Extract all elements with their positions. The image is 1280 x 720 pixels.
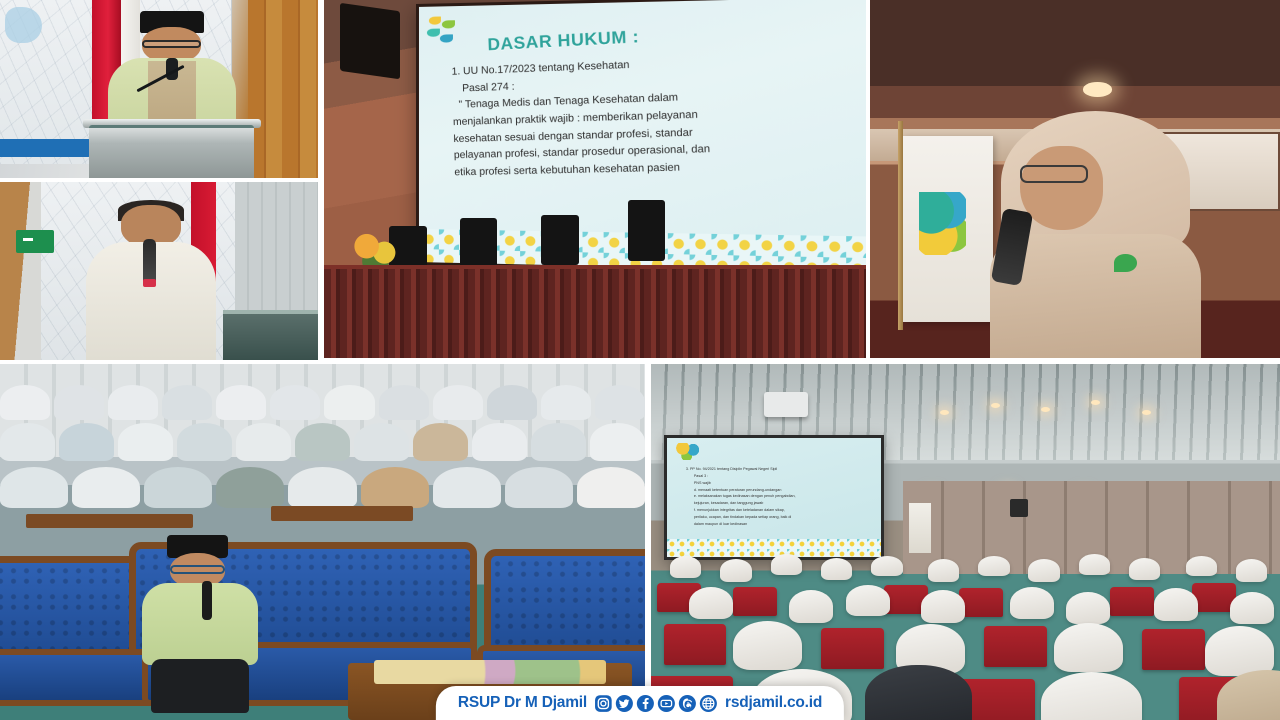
- website-url: rsdjamil.co.id: [725, 694, 822, 712]
- social-icon-row: [594, 694, 718, 713]
- attendee: [1230, 592, 1274, 624]
- attendee: [354, 423, 409, 461]
- attendee: [846, 585, 890, 616]
- attendee: [216, 385, 266, 419]
- attendee: [472, 423, 527, 461]
- auditorium-chair: [959, 588, 1003, 617]
- audience-row: [0, 385, 645, 419]
- slide-line: perilaku, ucapan, dan tindakan kepada se…: [686, 514, 866, 521]
- photo-panel-speaker-mic: Pria berbaju putih memegang mikrofon di …: [0, 182, 318, 360]
- attendee: [733, 621, 802, 671]
- attendee: [433, 467, 501, 508]
- stage-chair: [628, 200, 666, 261]
- attendee: [590, 423, 645, 461]
- sofa-chair: [0, 556, 142, 663]
- ceiling-downlight: [1083, 82, 1112, 96]
- sofa-backrest: [0, 556, 142, 663]
- auditorium-chair: [984, 626, 1047, 667]
- attendee: [108, 385, 158, 419]
- attendee: [1041, 672, 1142, 720]
- slide-decoration-dots: [675, 443, 701, 460]
- slide-content: 3. PP No. 94/2021 tentang Disiplin Pegaw…: [667, 438, 881, 557]
- instagram-icon[interactable]: [594, 694, 613, 713]
- photo-panel-hall-wide: 3. PP No. 94/2021 tentang Disiplin Pegaw…: [651, 364, 1280, 720]
- attendee: [361, 467, 429, 508]
- attendee: [789, 590, 833, 622]
- questioner-legs: [151, 659, 249, 712]
- attendee: [270, 385, 320, 419]
- attendee: [865, 665, 972, 720]
- speaker-figure: [86, 205, 216, 360]
- slide-line: PNS wajib: [686, 480, 866, 487]
- attendee: [162, 385, 212, 419]
- facebook-icon[interactable]: [636, 694, 655, 713]
- attendee: [1186, 556, 1217, 577]
- ceiling-speaker: [340, 3, 400, 79]
- standing-flag: [909, 503, 931, 553]
- slide-line: d. menaati ketentuan peraturan perundang…: [686, 487, 866, 494]
- attendee: [505, 467, 573, 508]
- slide-decoration-dots: [427, 16, 457, 47]
- eyeglasses: [142, 40, 201, 48]
- attendee: [0, 385, 50, 419]
- attendee: [595, 385, 645, 419]
- slide-line: e. melaksanakan tugas kedinasan dengan p…: [686, 493, 866, 500]
- attendee: [1054, 623, 1123, 673]
- audience-row: [0, 467, 645, 508]
- attendee: [928, 559, 959, 581]
- kemenkes-logo-icon: [919, 192, 966, 255]
- photo-panel-speaker-podium: Pembicara pria berpeci dan batik hijau b…: [0, 0, 318, 178]
- kemenkes-flag: [903, 136, 993, 322]
- audience-crowd: [0, 385, 645, 556]
- attendee: [1129, 558, 1160, 580]
- slide-line: f. menunjukkan integritas dan keteladana…: [686, 507, 866, 514]
- attendee: [413, 423, 468, 461]
- slide-line: 3. PP No. 94/2021 tentang Disiplin Pegaw…: [686, 466, 866, 473]
- attendee: [324, 385, 374, 419]
- attendee: [720, 559, 751, 581]
- stage-chair: [460, 218, 498, 268]
- slide-line: kejujuran, kesadaran, dan tanggung jawab: [686, 500, 866, 507]
- attendee: [541, 385, 591, 419]
- podium: [223, 310, 318, 360]
- slide-line: dalam maupun di luar kedinasan: [686, 521, 866, 528]
- slide-title: DASAR HUKUM :: [487, 15, 843, 55]
- attendee: [72, 467, 140, 508]
- eyeglasses: [170, 565, 226, 574]
- questioner-torso-batik: [142, 583, 258, 665]
- slide-body: 1. UU No.17/2023 tentang Kesehatan Pasal…: [451, 49, 844, 182]
- attendee: [54, 385, 104, 419]
- attendee: [771, 554, 802, 575]
- attendee: [288, 467, 356, 508]
- attendee: [177, 423, 232, 461]
- podium: [89, 125, 254, 178]
- table-flower-decoration: [374, 660, 606, 685]
- attendee: [118, 423, 173, 461]
- attendee: [821, 558, 852, 580]
- head-table-skirt: [324, 265, 866, 358]
- table: [271, 506, 413, 520]
- auditorium-chair: [1142, 629, 1205, 670]
- ceiling-projector: [764, 392, 808, 417]
- photo-collage: Pembicara pria berpeci dan batik hijau b…: [0, 0, 1280, 720]
- attendee: [144, 467, 212, 508]
- lapel-pin: [1114, 254, 1137, 271]
- attendee: [531, 423, 586, 461]
- photo-panel-audience-front: Peserta duduk di kursi sofa biru, pria b…: [0, 364, 645, 720]
- photo-panel-woman-speaker: Narasumber perempuan berhijab krem berbi…: [870, 0, 1280, 358]
- attendee: [295, 423, 350, 461]
- ceiling-downlight: [991, 403, 1000, 408]
- attendee: [1205, 626, 1274, 676]
- website-globe-icon[interactable]: [699, 694, 718, 713]
- photo-panel-slide-hall: DASAR HUKUM : 1. UU No.17/2023 tentang K…: [324, 0, 866, 358]
- emergency-exit-sign-icon: [16, 230, 54, 253]
- attendee: [1066, 592, 1110, 624]
- attendee: [59, 423, 114, 461]
- attendee: [433, 385, 483, 419]
- handheld-microphone: [202, 581, 211, 620]
- attendee: [236, 423, 291, 461]
- stage-chair: [541, 215, 579, 265]
- attendee: [1079, 554, 1110, 575]
- attendee: [978, 556, 1009, 577]
- map-banner-badge: [0, 139, 97, 157]
- twitter-icon[interactable]: [615, 694, 634, 713]
- attendee: [871, 556, 902, 577]
- attendee: [577, 467, 645, 508]
- organization-name: RSUP Dr M Djamil: [458, 694, 587, 712]
- threads-icon[interactable]: [678, 694, 697, 713]
- youtube-icon[interactable]: [657, 694, 676, 713]
- woman-speaker-figure: [1001, 111, 1190, 358]
- audience-row: [0, 423, 645, 461]
- auditorium-chair: [1110, 587, 1154, 616]
- attendee: [487, 385, 537, 419]
- ceiling-downlight: [1041, 407, 1050, 412]
- attendee: [670, 556, 701, 578]
- attendee: [1154, 588, 1198, 620]
- microphone-band: [143, 279, 156, 287]
- attendee: [921, 590, 965, 622]
- attendee: [1010, 587, 1054, 619]
- auditorium-chair: [664, 624, 727, 665]
- attendee: [216, 467, 284, 508]
- auditorium-chair: [821, 628, 884, 669]
- attendee: [379, 385, 429, 419]
- slide-line: Pasal 3 :: [686, 473, 866, 480]
- map-region-shape: [5, 7, 42, 43]
- attendee: [1028, 559, 1059, 581]
- questioner-figure: [142, 535, 258, 713]
- footer-branding-bar: RSUP Dr M Djamil: [436, 686, 844, 720]
- attendee: [0, 467, 68, 508]
- attendee: [689, 587, 733, 619]
- wall-speaker: [1010, 499, 1029, 517]
- projection-screen: 3. PP No. 94/2021 tentang Disiplin Pegaw…: [664, 435, 884, 560]
- auditorium-chair: [733, 587, 777, 616]
- eyeglasses: [1020, 165, 1088, 182]
- attendee: [1236, 559, 1267, 581]
- speaker-face: [1020, 146, 1103, 230]
- wood-wall-panel: [248, 0, 318, 178]
- ceiling-downlight: [1091, 400, 1100, 405]
- attendee: [0, 423, 55, 461]
- table: [26, 514, 194, 528]
